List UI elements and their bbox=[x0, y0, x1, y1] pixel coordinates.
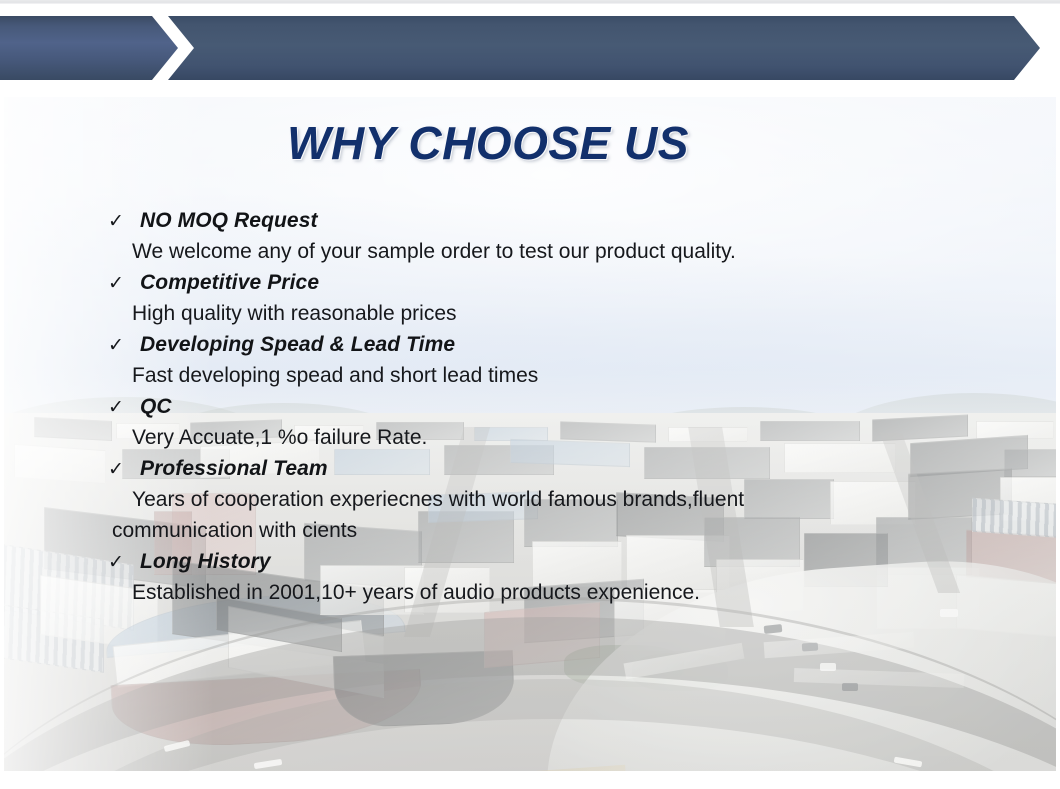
list-item: ✓ Long History Established in 2001,10+ y… bbox=[104, 546, 964, 608]
list-item-detail: Established in 2001,10+ years of audio p… bbox=[132, 577, 964, 608]
slide-content-area: WHY CHOOSE US ✓ NO MOQ Request We welcom… bbox=[4, 97, 1056, 771]
header-chevron-left bbox=[0, 16, 178, 80]
list-item-detail: Fast developing spead and short lead tim… bbox=[132, 360, 964, 391]
list-item-heading: QC bbox=[140, 391, 964, 422]
checkmark-icon: ✓ bbox=[108, 454, 130, 485]
benefits-list: ✓ NO MOQ Request We welcome any of your … bbox=[104, 205, 964, 608]
list-item: ✓ QC Very Accuate,1 %o failure Rate. bbox=[104, 391, 964, 453]
slide-title: WHY CHOOSE US bbox=[4, 116, 1056, 170]
slide-canvas: WHY CHOOSE US ✓ NO MOQ Request We welcom… bbox=[0, 0, 1060, 789]
list-item-heading: Competitive Price bbox=[140, 267, 964, 298]
slide-title-text: WHY CHOOSE US bbox=[287, 116, 689, 170]
header-chevron-band bbox=[0, 16, 1060, 80]
slide-text-layer: WHY CHOOSE US ✓ NO MOQ Request We welcom… bbox=[4, 97, 1056, 771]
checkmark-icon: ✓ bbox=[108, 206, 130, 237]
list-item: ✓ Competitive Price High quality with re… bbox=[104, 267, 964, 329]
list-item-heading: Professional Team bbox=[140, 453, 964, 484]
list-item-heading: Developing Spead & Lead Time bbox=[140, 329, 964, 360]
checkmark-icon: ✓ bbox=[108, 268, 130, 299]
list-item-detail-continuation: communication with cients bbox=[104, 515, 964, 546]
list-item-detail: Years of cooperation experiecnes with wo… bbox=[132, 484, 964, 515]
list-item: ✓ NO MOQ Request We welcome any of your … bbox=[104, 205, 964, 267]
list-item-detail: Very Accuate,1 %o failure Rate. bbox=[132, 422, 964, 453]
header-chevron-right bbox=[168, 16, 1040, 80]
checkmark-icon: ✓ bbox=[108, 547, 130, 578]
list-item-heading: Long History bbox=[140, 546, 964, 577]
top-divider-rule bbox=[0, 0, 1060, 4]
list-item: ✓ Professional Team Years of cooperation… bbox=[104, 453, 964, 546]
checkmark-icon: ✓ bbox=[108, 330, 130, 361]
checkmark-icon: ✓ bbox=[108, 392, 130, 423]
list-item: ✓ Developing Spead & Lead Time Fast deve… bbox=[104, 329, 964, 391]
list-item-detail: We welcome any of your sample order to t… bbox=[132, 236, 964, 267]
list-item-detail: High quality with reasonable prices bbox=[132, 298, 964, 329]
list-item-heading: NO MOQ Request bbox=[140, 205, 964, 236]
